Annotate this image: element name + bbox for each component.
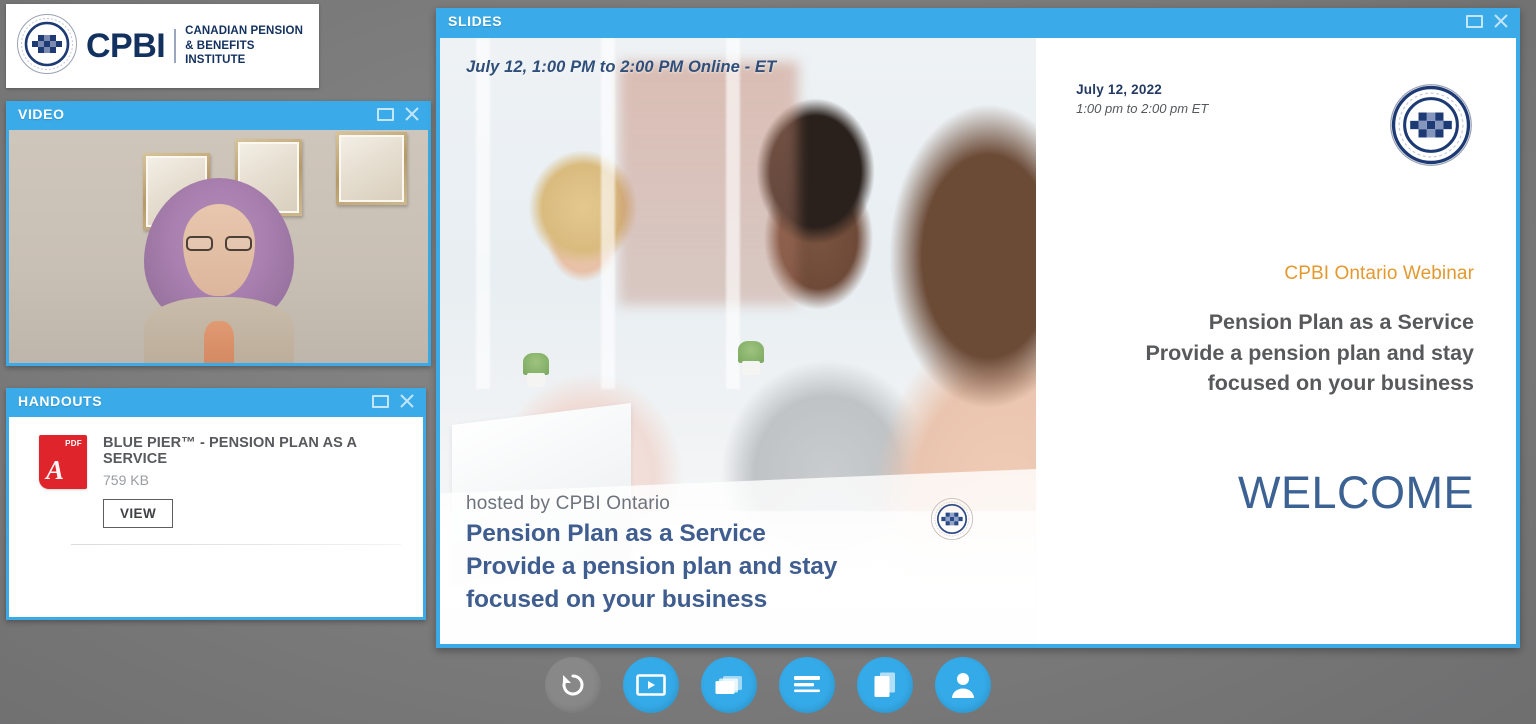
logo-divider — [174, 29, 176, 63]
list-lines-icon — [793, 674, 821, 696]
slide-viewport[interactable]: July 12, 1:00 PM to 2:00 PM Online - ET … — [436, 34, 1520, 648]
video-maximize-icon[interactable] — [377, 108, 394, 121]
video-close-icon[interactable] — [403, 105, 421, 123]
slides-close-icon[interactable] — [1492, 12, 1510, 30]
welcome-title: Pension Plan as a Service Provide a pens… — [1076, 307, 1474, 399]
cpbi-logo-card: CPBI CANADIAN PENSION & BENEFITS INSTITU… — [6, 4, 319, 88]
logo-name-line-2: & BENEFITS INSTITUTE — [185, 39, 309, 68]
webinar-viewer: CPBI CANADIAN PENSION & BENEFITS INSTITU… — [0, 0, 1536, 724]
documents-icon — [872, 671, 898, 699]
welcome-slide: July 12, 2022 1:00 pm to 2:00 pm ET — [1036, 38, 1516, 644]
video-button[interactable] — [623, 657, 679, 713]
slides-panel: SLIDES — [436, 8, 1520, 648]
cpbi-checkered-seal-icon — [1388, 82, 1474, 173]
pdf-file-icon: PDF A — [39, 435, 87, 489]
list-divider — [71, 544, 401, 545]
bottom-toolbar — [0, 654, 1536, 716]
overlay-title-line-3: focused on your business — [466, 583, 1016, 616]
presenter-button[interactable] — [935, 657, 991, 713]
welcome-heading: WELCOME — [1076, 467, 1474, 519]
video-panel-titlebar: VIDEO — [6, 101, 431, 127]
handouts-maximize-icon[interactable] — [372, 395, 389, 408]
welcome-kicker: CPBI Ontario Webinar — [1076, 263, 1474, 285]
presenter-webcam-image — [9, 130, 428, 363]
welcome-title-line-1: Pension Plan as a Service — [1076, 307, 1474, 338]
video-panel: VIDEO — [6, 101, 431, 366]
replay-icon — [558, 670, 588, 700]
person-icon — [950, 671, 976, 699]
handouts-close-icon[interactable] — [398, 392, 416, 410]
logo-abbr: CPBI — [86, 27, 165, 66]
slides-panel-titlebar: SLIDES — [436, 8, 1520, 34]
acrobat-glyph: A — [46, 457, 64, 484]
pdf-label: PDF — [65, 439, 82, 448]
overlay-title-line-2: Provide a pension plan and stay — [466, 550, 1016, 583]
welcome-slide-date: July 12, 2022 — [1076, 82, 1208, 97]
cpbi-checkered-seal-icon — [930, 497, 974, 546]
view-button[interactable]: VIEW — [103, 499, 173, 528]
handouts-panel: HANDOUTS PDF A BLUE PIER™ - PENSION PLAN… — [6, 388, 426, 620]
video-stream[interactable] — [6, 127, 431, 366]
video-panel-title: VIDEO — [18, 106, 377, 122]
welcome-title-line-3: focused on your business — [1076, 368, 1474, 399]
logo-full-name: CANADIAN PENSION & BENEFITS INSTITUTE — [185, 24, 309, 68]
slide-date-banner: July 12, 1:00 PM to 2:00 PM Online - ET — [466, 58, 776, 77]
handouts-button[interactable] — [857, 657, 913, 713]
slides-maximize-icon[interactable] — [1466, 15, 1483, 28]
slide-title-overlay: hosted by CPBI Ontario Pension Plan as a… — [440, 469, 1036, 644]
welcome-slide-time: 1:00 pm to 2:00 pm ET — [1076, 101, 1208, 116]
handout-title: BLUE PIER™ - PENSION PLAN AS A SERVICE — [103, 435, 407, 467]
slides-stack-icon — [714, 673, 744, 697]
photo-slide: July 12, 1:00 PM to 2:00 PM Online - ET … — [440, 38, 1036, 644]
welcome-title-line-2: Provide a pension plan and stay — [1076, 338, 1474, 369]
list-item: PDF A BLUE PIER™ - PENSION PLAN AS A SER… — [19, 427, 413, 528]
agenda-button[interactable] — [779, 657, 835, 713]
handouts-panel-titlebar: HANDOUTS — [6, 388, 426, 414]
replay-button[interactable] — [545, 657, 601, 713]
cpbi-checkered-seal-icon — [16, 13, 78, 80]
video-player-icon — [636, 673, 666, 697]
slides-panel-title: SLIDES — [448, 13, 1466, 29]
slides-button[interactable] — [701, 657, 757, 713]
handout-filesize: 759 KB — [103, 472, 407, 488]
handouts-panel-title: HANDOUTS — [18, 393, 372, 409]
handouts-list: PDF A BLUE PIER™ - PENSION PLAN AS A SER… — [6, 414, 426, 620]
logo-name-line-1: CANADIAN PENSION — [185, 24, 309, 39]
